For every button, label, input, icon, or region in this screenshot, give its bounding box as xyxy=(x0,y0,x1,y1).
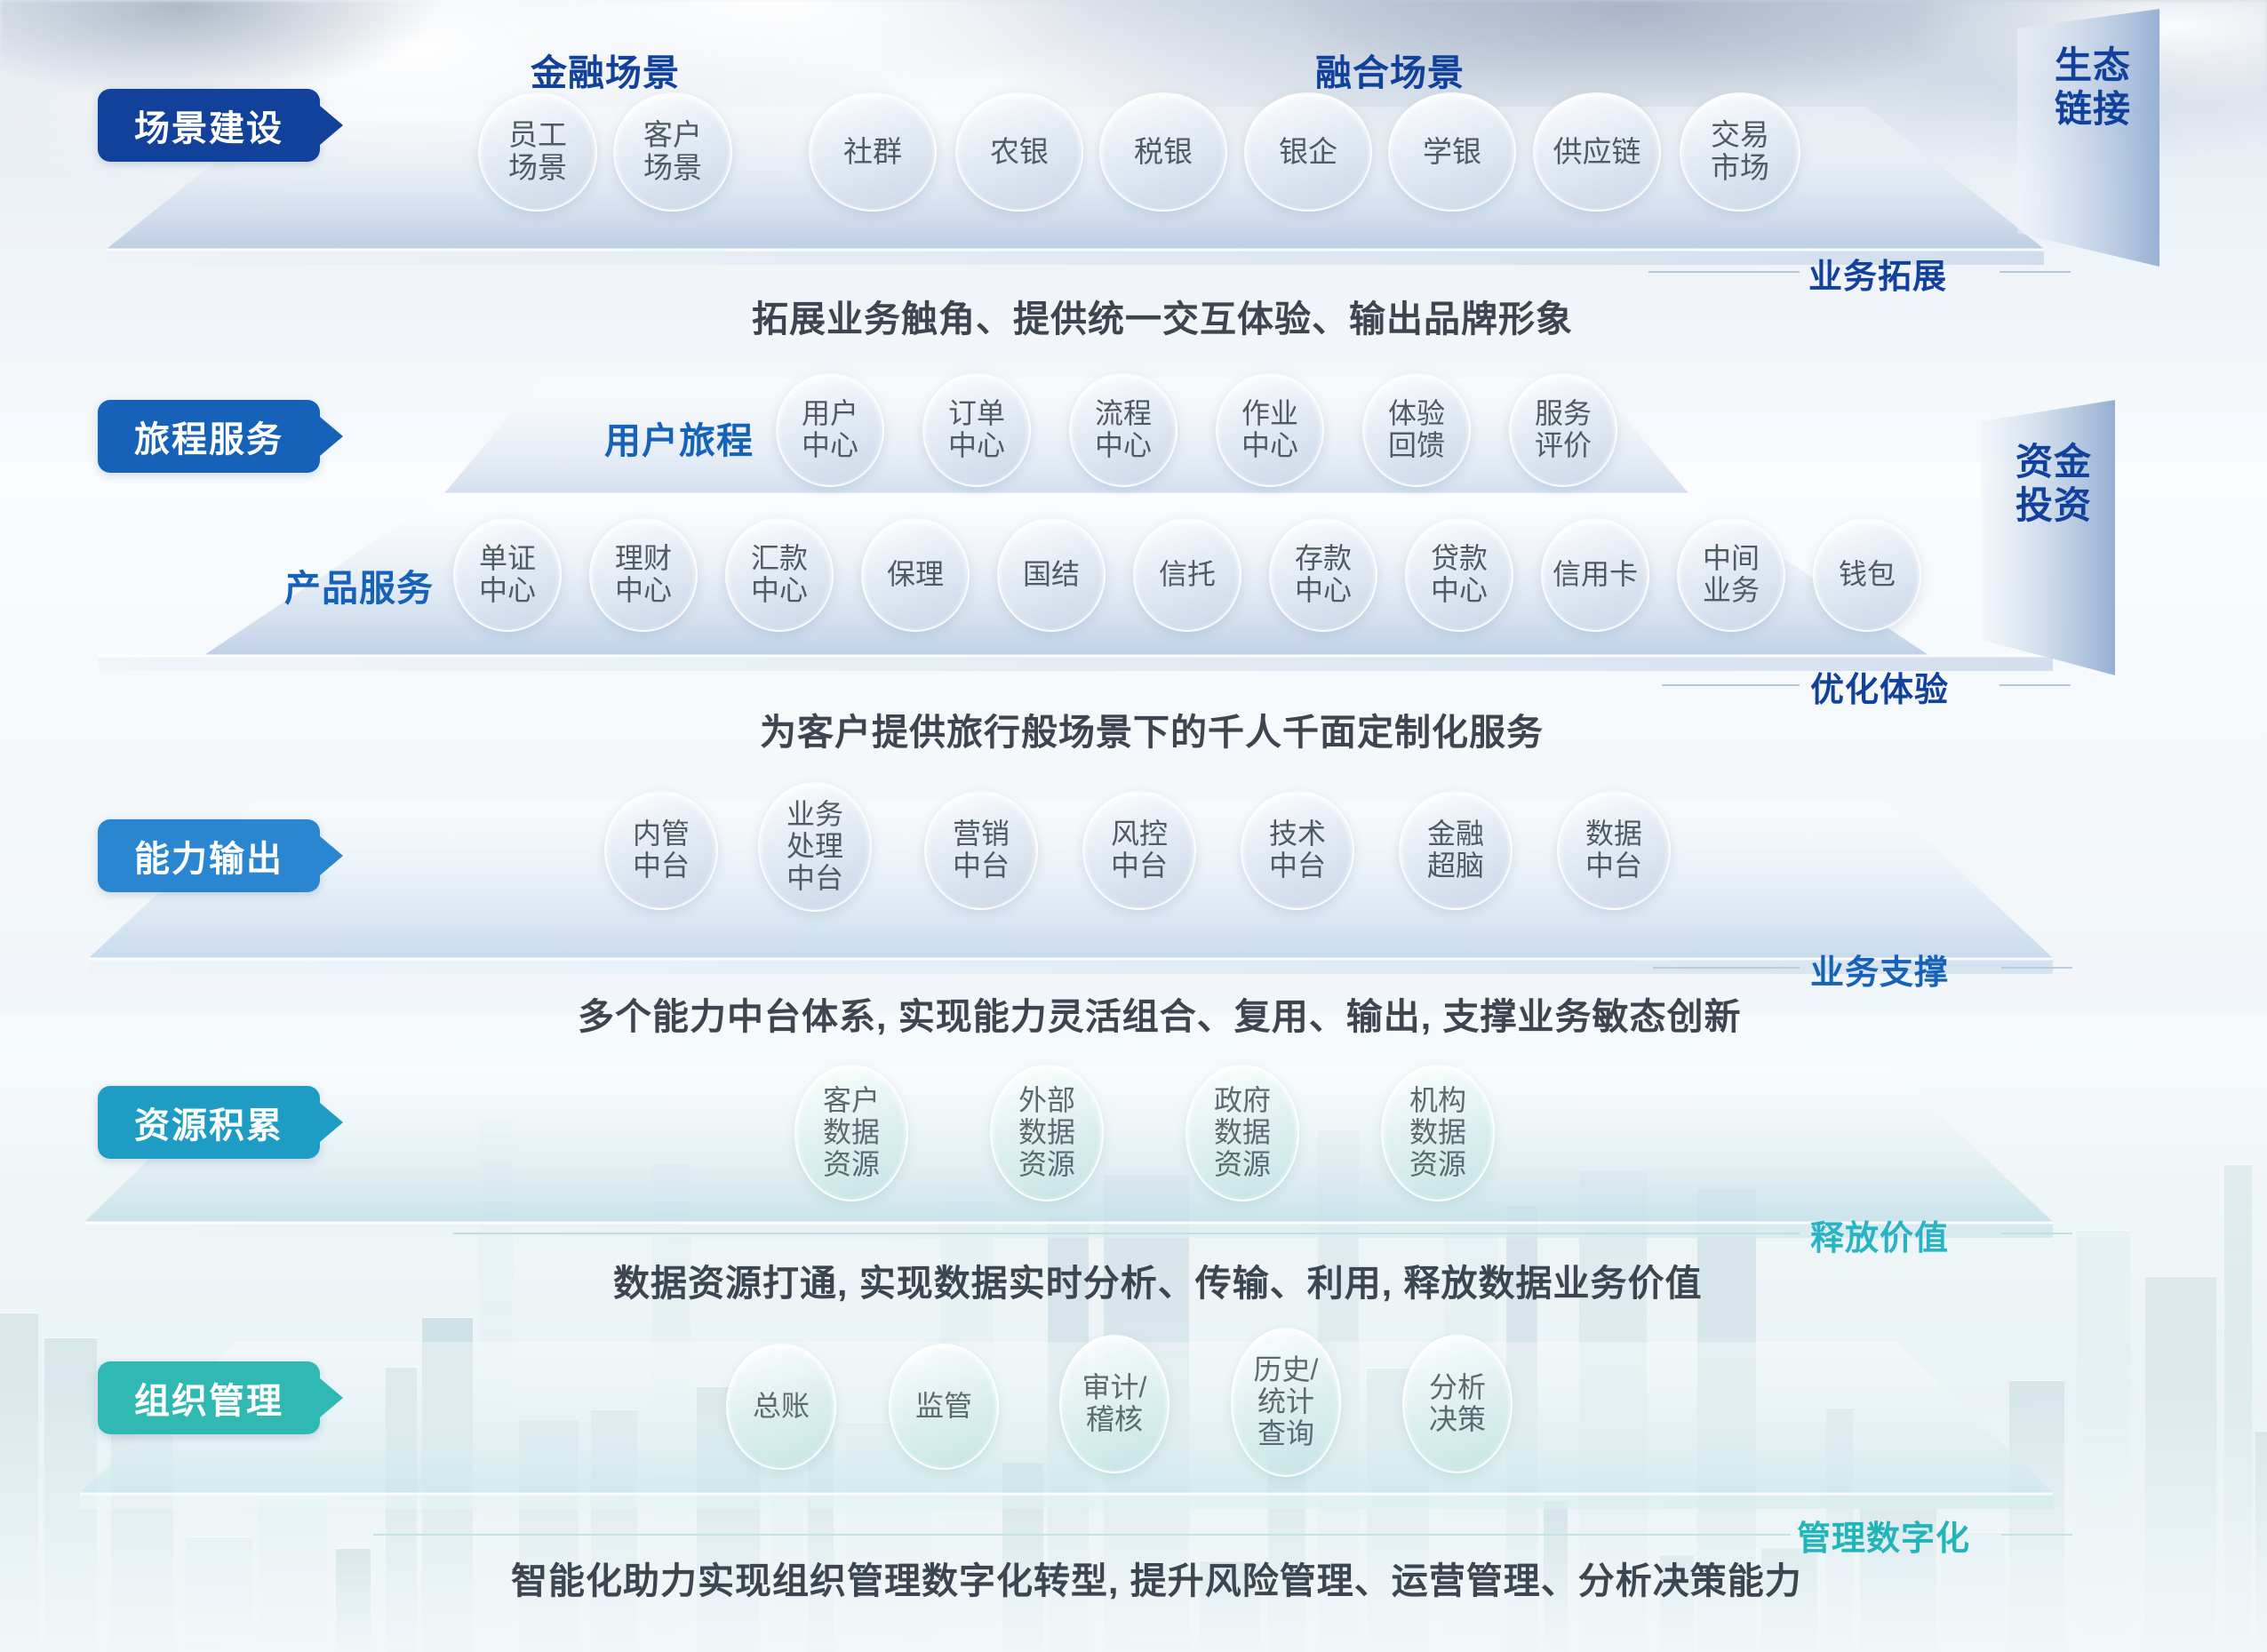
node-community[interactable]: 社群 xyxy=(809,92,937,211)
node-line: 社群 xyxy=(843,136,902,169)
node-line: 外部 xyxy=(1018,1085,1075,1117)
node-line: 资源 xyxy=(1018,1149,1075,1181)
edge-rule-4b xyxy=(2001,1233,2072,1234)
band-pill-scene[interactable]: 场景建设 xyxy=(98,89,320,162)
caption-scene: 拓展业务触角、提供统一交互体验、输出品牌形象 xyxy=(752,289,1573,342)
node-trading-market[interactable]: 交易市场 xyxy=(1680,92,1800,211)
node-remittance-center[interactable]: 汇款中心 xyxy=(725,518,834,632)
edge-rule-1 xyxy=(1648,271,1800,273)
node-line: 贷款 xyxy=(1431,543,1488,575)
edge-rule-2 xyxy=(1662,684,1800,686)
edge-rule-5 xyxy=(373,1534,1791,1536)
node-line: 国结 xyxy=(1023,559,1080,591)
node-technology-midend[interactable]: 技术中台 xyxy=(1241,791,1354,910)
node-line: 数据 xyxy=(823,1117,880,1149)
node-document-center[interactable]: 单证中心 xyxy=(453,518,562,632)
node-line: 市场 xyxy=(1711,152,1769,185)
side-banner-ecosystem-text: 生态 链接 xyxy=(2026,9,2186,284)
node-line: 数据 xyxy=(1018,1117,1075,1149)
band-pill-label: 旅程服务 xyxy=(134,411,283,462)
node-line: 汇款 xyxy=(751,543,808,575)
node-line: 数据 xyxy=(1409,1117,1466,1149)
node-line: 中心 xyxy=(948,430,1005,462)
node-line: 中心 xyxy=(1431,575,1488,607)
node-line: 中台 xyxy=(1269,850,1326,882)
node-line: 资源 xyxy=(823,1149,880,1181)
node-data-midend[interactable]: 数据中台 xyxy=(1557,791,1671,910)
side-banner-fund-text: 资金 投资 xyxy=(1991,400,2151,693)
edge-rule-1b xyxy=(2000,271,2071,273)
node-line: 服务 xyxy=(1535,398,1592,430)
node-line: 中台 xyxy=(633,850,690,882)
node-service-evaluation[interactable]: 服务评价 xyxy=(1509,373,1617,487)
edge-tag-release-value: 释放价值 xyxy=(1810,1210,1949,1259)
node-line: 评价 xyxy=(1535,430,1592,462)
caption-journey: 为客户提供旅行般场景下的千人千面定制化服务 xyxy=(760,702,1544,755)
node-line: 场景 xyxy=(508,152,567,185)
pill-nib xyxy=(320,1378,343,1417)
node-line: 中心 xyxy=(615,575,672,607)
band-pill-journey[interactable]: 旅程服务 xyxy=(98,400,320,473)
node-institution-data-resource[interactable]: 机构数据资源 xyxy=(1381,1065,1495,1201)
node-line: 中台 xyxy=(1111,850,1168,882)
node-line: 历史/ xyxy=(1254,1354,1319,1386)
node-line: 用户 xyxy=(802,398,858,430)
node-line: 营销 xyxy=(953,818,1010,850)
node-line: 资源 xyxy=(1214,1149,1271,1181)
node-deposit-center[interactable]: 存款中心 xyxy=(1269,518,1377,632)
node-customer-data-resource[interactable]: 客户数据资源 xyxy=(794,1065,908,1201)
node-history-statistics-query[interactable]: 历史/统计查询 xyxy=(1231,1328,1341,1477)
banner-line-2: 链接 xyxy=(2055,88,2131,130)
node-line: 体验 xyxy=(1388,398,1445,430)
node-line: 回馈 xyxy=(1388,430,1445,462)
node-external-data-resource[interactable]: 外部数据资源 xyxy=(990,1065,1104,1201)
node-line: 作业 xyxy=(1241,398,1298,430)
node-line: 中心 xyxy=(479,575,536,607)
node-user-center[interactable]: 用户中心 xyxy=(776,373,884,487)
edge-rule-4 xyxy=(453,1233,1800,1234)
node-line: 资源 xyxy=(1409,1149,1466,1181)
banner-line-2: 投资 xyxy=(2016,484,2092,526)
node-line: 信用卡 xyxy=(1553,559,1638,591)
node-line: 中心 xyxy=(1241,430,1298,462)
banner-line-1: 生态 xyxy=(2055,44,2131,86)
node-line: 农银 xyxy=(990,136,1049,169)
node-school-bank[interactable]: 学银 xyxy=(1388,92,1516,211)
node-line: 场景 xyxy=(643,152,702,185)
node-wealth-center[interactable]: 理财中心 xyxy=(589,518,698,632)
pill-nib xyxy=(320,1103,343,1142)
node-line: 理财 xyxy=(615,543,672,575)
node-line: 保理 xyxy=(887,559,944,591)
diagram-stage: 场景建设 金融场景 融合场景 员工场景 客户场景 社群 农银 税银 银企 学银 … xyxy=(0,0,2267,1652)
band-pill-resource[interactable]: 资源积累 xyxy=(98,1086,320,1159)
node-line: 员工 xyxy=(508,119,567,152)
node-line: 稽核 xyxy=(1082,1404,1147,1436)
caption-resource: 数据资源打通, 实现数据实时分析、传输、利用, 释放数据业务价值 xyxy=(613,1253,1703,1306)
node-line: 中心 xyxy=(751,575,808,607)
group-title-fusion-scene: 融合场景 xyxy=(1315,43,1465,96)
edge-tag-optimize-experience: 优化体验 xyxy=(1810,662,1949,711)
node-line: 数据 xyxy=(1214,1117,1271,1149)
group-title-financial-scene: 金融场景 xyxy=(531,43,680,96)
node-audit-inspection[interactable]: 审计/稽核 xyxy=(1059,1335,1169,1473)
node-line: 交易 xyxy=(1711,119,1769,152)
band-pill-label: 资源积累 xyxy=(134,1097,283,1148)
node-marketing-midend[interactable]: 营销中台 xyxy=(924,791,1038,910)
node-employee-scene[interactable]: 员工场景 xyxy=(478,92,597,211)
row-label-user-journey: 用户旅程 xyxy=(604,411,754,464)
banner-line-1: 资金 xyxy=(2016,441,2092,483)
node-line: 统计 xyxy=(1254,1386,1319,1418)
node-supply-chain[interactable]: 供应链 xyxy=(1533,92,1661,211)
node-trust[interactable]: 信托 xyxy=(1133,518,1241,632)
node-line: 数据 xyxy=(1585,818,1642,850)
band-pill-capability[interactable]: 能力输出 xyxy=(98,819,320,892)
node-line: 中间 xyxy=(1703,543,1760,575)
node-line: 中台 xyxy=(786,863,843,895)
node-operation-center[interactable]: 作业中心 xyxy=(1216,373,1324,487)
edge-tag-business-support: 业务支撑 xyxy=(1810,945,1949,994)
node-wallet[interactable]: 钱包 xyxy=(1813,518,1921,632)
node-line: 技术 xyxy=(1269,818,1326,850)
node-line: 超脑 xyxy=(1427,850,1484,882)
node-line: 信托 xyxy=(1159,559,1216,591)
node-bank-enterprise[interactable]: 银企 xyxy=(1244,92,1372,211)
band-pill-organization[interactable]: 组织管理 xyxy=(98,1361,320,1434)
band-pill-label: 组织管理 xyxy=(134,1372,283,1424)
caption-capability: 多个能力中台体系, 实现能力灵活组合、复用、输出, 支撑业务敏态创新 xyxy=(578,986,1742,1040)
node-general-ledger[interactable]: 总账 xyxy=(726,1344,836,1470)
node-credit-card[interactable]: 信用卡 xyxy=(1541,518,1649,632)
band-pill-label: 场景建设 xyxy=(134,100,283,151)
node-line: 审计/ xyxy=(1082,1372,1147,1404)
node-line: 内管 xyxy=(633,818,690,850)
node-line: 流程 xyxy=(1095,398,1152,430)
node-factoring[interactable]: 保理 xyxy=(861,518,970,632)
node-supervision[interactable]: 监管 xyxy=(889,1344,999,1470)
edge-tag-management-digitalization: 管理数字化 xyxy=(1797,1511,1970,1560)
row-label-product-service: 产品服务 xyxy=(284,558,434,611)
node-line: 税银 xyxy=(1134,136,1193,169)
edge-tag-business-expansion: 业务拓展 xyxy=(1808,249,1947,298)
node-intermediary-business[interactable]: 中间业务 xyxy=(1677,518,1785,632)
node-line: 金融 xyxy=(1427,818,1484,850)
node-customer-scene[interactable]: 客户场景 xyxy=(613,92,732,211)
edge-rule-3 xyxy=(1653,967,1800,969)
node-line: 中心 xyxy=(1095,430,1152,462)
node-line: 钱包 xyxy=(1839,559,1896,591)
node-government-data-resource[interactable]: 政府数据资源 xyxy=(1185,1065,1299,1201)
node-line: 监管 xyxy=(915,1391,972,1423)
node-internal-mgmt-midend[interactable]: 内管中台 xyxy=(604,791,718,910)
node-experience-feedback[interactable]: 体验回馈 xyxy=(1362,373,1471,487)
node-line: 客户 xyxy=(643,119,702,152)
node-line: 存款 xyxy=(1295,543,1352,575)
node-line: 业务 xyxy=(1703,575,1760,607)
platform-capability xyxy=(89,800,2053,995)
node-process-center[interactable]: 流程中心 xyxy=(1069,373,1177,487)
node-line: 机构 xyxy=(1409,1085,1466,1117)
pill-nib xyxy=(320,106,343,145)
node-loan-center[interactable]: 贷款中心 xyxy=(1405,518,1513,632)
node-tax-bank[interactable]: 税银 xyxy=(1099,92,1227,211)
node-line: 风控 xyxy=(1111,818,1168,850)
node-line: 总账 xyxy=(753,1391,810,1423)
node-line: 中台 xyxy=(1585,850,1642,882)
node-line: 中心 xyxy=(1295,575,1352,607)
node-line: 银企 xyxy=(1279,136,1337,169)
node-line: 单证 xyxy=(479,543,536,575)
pill-nib xyxy=(320,836,343,875)
edge-rule-2b xyxy=(2000,684,2071,686)
caption-organization: 智能化助力实现组织管理数字化转型, 提升风险管理、运营管理、分析决策能力 xyxy=(511,1551,1802,1604)
node-line: 客户 xyxy=(823,1085,880,1117)
node-line: 分析 xyxy=(1429,1372,1486,1404)
node-financial-brain[interactable]: 金融超脑 xyxy=(1399,791,1513,910)
node-line: 决策 xyxy=(1429,1404,1486,1436)
node-analysis-decision[interactable]: 分析决策 xyxy=(1402,1335,1513,1473)
node-line: 供应链 xyxy=(1553,136,1641,169)
band-pill-label: 能力输出 xyxy=(134,830,283,882)
edge-rule-5b xyxy=(2001,1534,2072,1536)
node-line: 查询 xyxy=(1254,1418,1319,1450)
node-line: 处理 xyxy=(786,831,843,863)
node-business-process-midend[interactable]: 业务处理中台 xyxy=(758,782,872,912)
node-agri-bank[interactable]: 农银 xyxy=(955,92,1083,211)
node-risk-control-midend[interactable]: 风控中台 xyxy=(1082,791,1196,910)
node-line: 中心 xyxy=(802,430,858,462)
node-line: 业务 xyxy=(786,799,843,831)
node-line: 中台 xyxy=(953,850,1010,882)
edge-rule-3b xyxy=(2001,967,2072,969)
node-line: 政府 xyxy=(1214,1085,1271,1117)
pill-nib xyxy=(320,417,343,456)
node-order-center[interactable]: 订单中心 xyxy=(922,373,1031,487)
node-line: 学银 xyxy=(1423,136,1481,169)
node-line: 订单 xyxy=(948,398,1005,430)
node-intl-settlement[interactable]: 国结 xyxy=(997,518,1106,632)
